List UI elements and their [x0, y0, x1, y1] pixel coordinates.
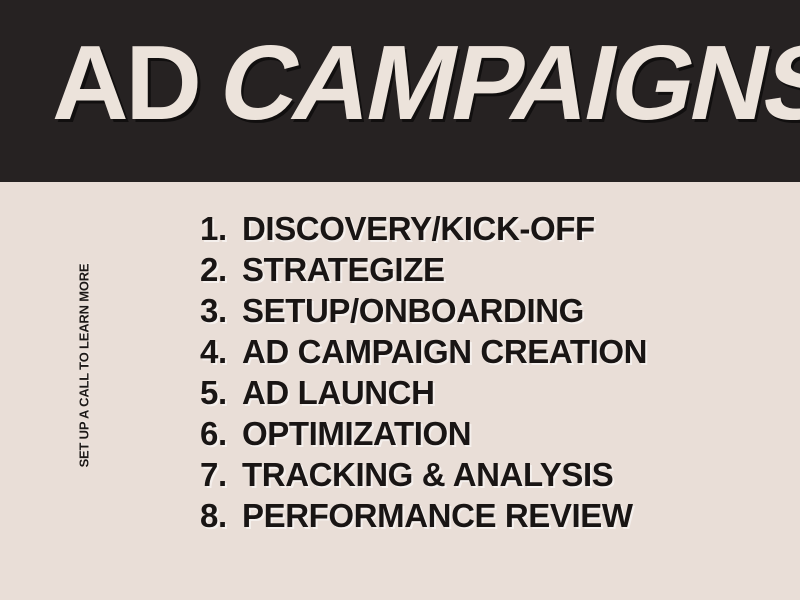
step-label: TRACKING & ANALYSIS — [242, 454, 613, 495]
step-number: 1. — [200, 208, 242, 249]
step-number: 7. — [200, 454, 242, 495]
step-label: OPTIMIZATION — [242, 413, 471, 454]
list-item: 4.AD CAMPAIGN CREATION — [200, 331, 647, 372]
step-number: 4. — [200, 331, 242, 372]
step-label: SETUP/ONBOARDING — [242, 290, 584, 331]
step-number: 8. — [200, 495, 242, 536]
list-item: 2.STRATEGIZE — [200, 249, 647, 290]
step-label: AD CAMPAIGN CREATION — [242, 331, 647, 372]
step-label: DISCOVERY/KICK-OFF — [242, 208, 595, 249]
page-title-upright-part: AD — [52, 30, 199, 136]
list-item: 3.SETUP/ONBOARDING — [200, 290, 647, 331]
step-label: PERFORMANCE REVIEW — [242, 495, 633, 536]
list-item: 5.AD LAUNCH — [200, 372, 647, 413]
list-item: 1.DISCOVERY/KICK-OFF — [200, 208, 647, 249]
page-title-italic-part: CAMPAIGNS — [211, 30, 800, 136]
list-item: 6.OPTIMIZATION — [200, 413, 647, 454]
step-number: 5. — [200, 372, 242, 413]
steps-list: 1.DISCOVERY/KICK-OFF2.STRATEGIZE3.SETUP/… — [200, 208, 647, 536]
step-number: 2. — [200, 249, 242, 290]
side-caption: SET UP A CALL TO LEARN MORE — [0, 254, 168, 476]
step-label: AD LAUNCH — [242, 372, 435, 413]
ad-campaigns-poster: ADCAMPAIGNS SET UP A CALL TO LEARN MORE … — [0, 0, 800, 600]
list-item: 8.PERFORMANCE REVIEW — [200, 495, 647, 536]
header-band: ADCAMPAIGNS — [0, 0, 800, 182]
step-number: 6. — [200, 413, 242, 454]
side-caption-label: SET UP A CALL TO LEARN MORE — [77, 263, 92, 467]
step-label: STRATEGIZE — [242, 249, 445, 290]
list-item: 7.TRACKING & ANALYSIS — [200, 454, 647, 495]
step-number: 3. — [200, 290, 242, 331]
page-title: ADCAMPAIGNS — [52, 30, 800, 136]
